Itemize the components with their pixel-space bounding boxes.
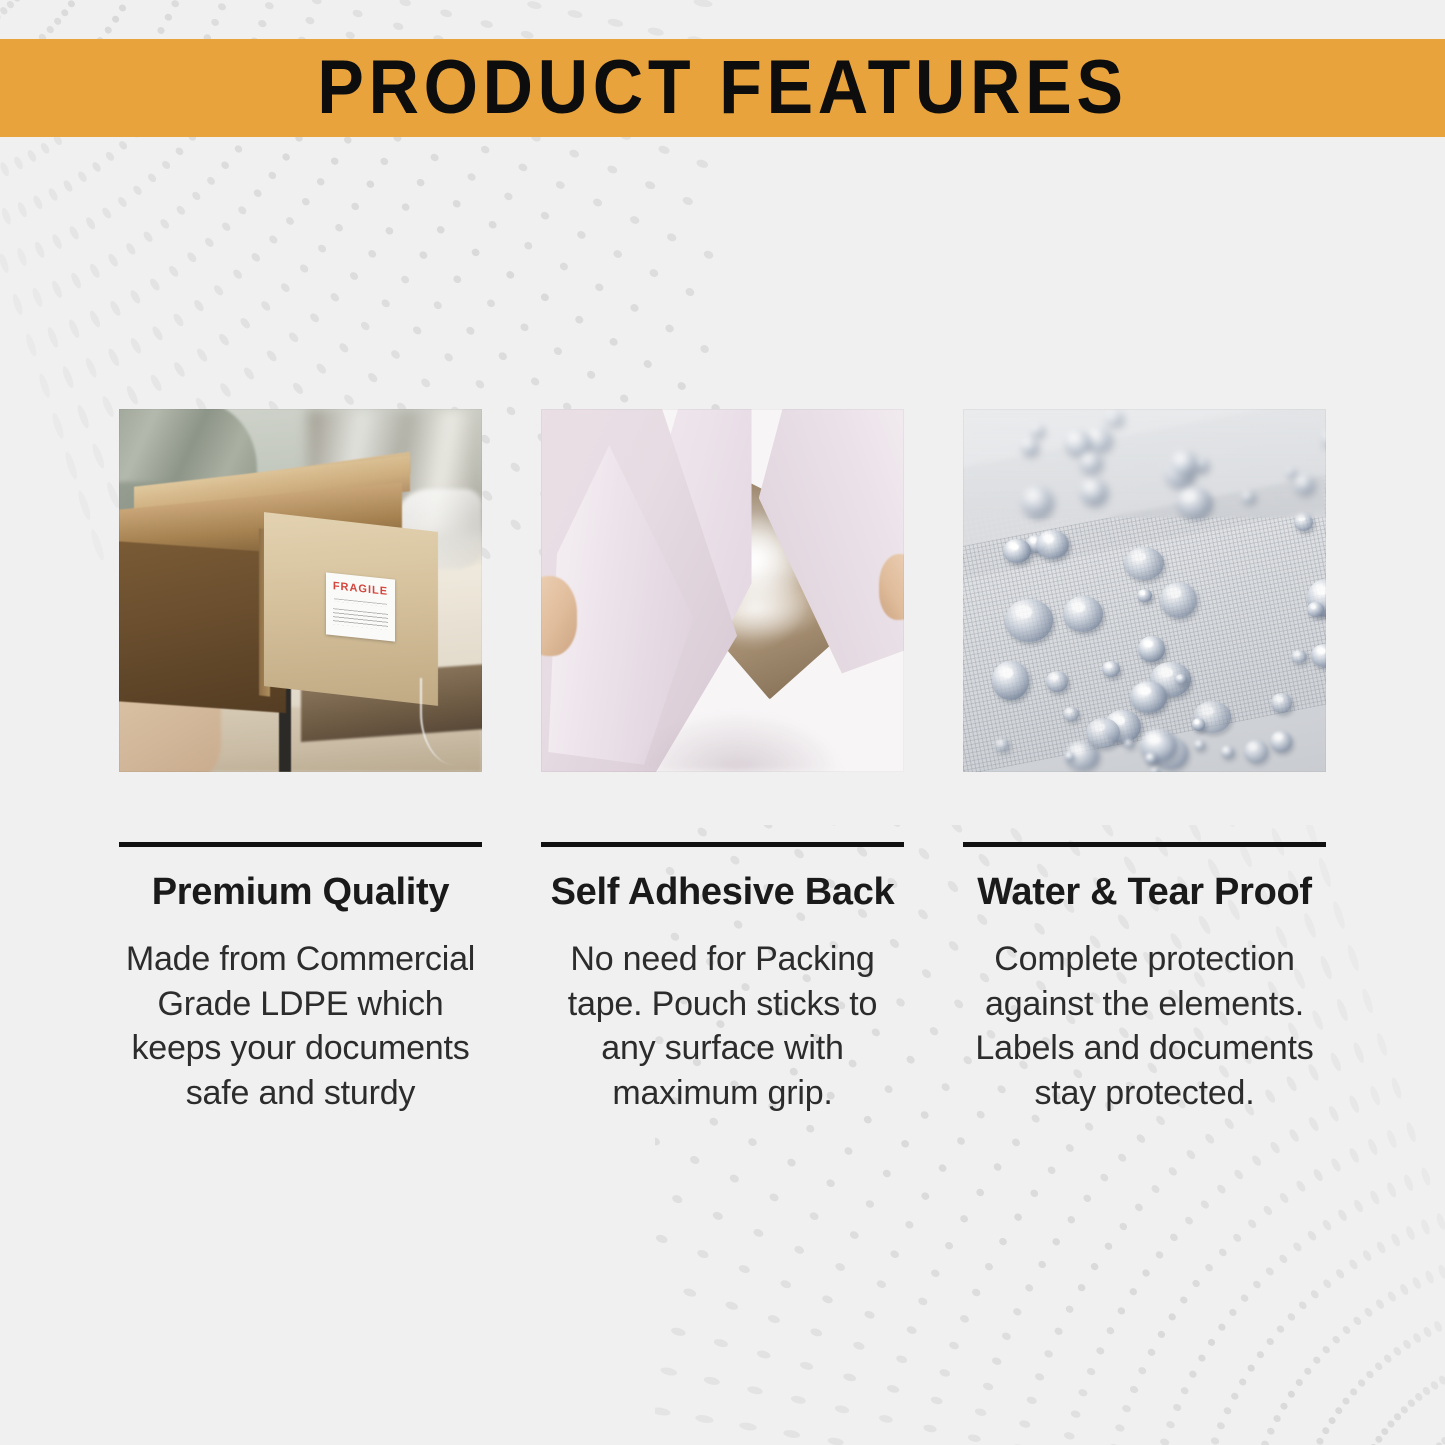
water-droplet <box>1192 718 1205 732</box>
card-divider <box>541 842 904 847</box>
feature-image-adhesive-peel <box>541 409 904 772</box>
fragile-label-text: FRAGILE <box>330 581 391 598</box>
water-droplet <box>1063 707 1079 721</box>
water-droplet <box>1102 661 1120 677</box>
water-droplet <box>1005 599 1053 643</box>
water-droplet <box>1046 671 1067 691</box>
water-droplet <box>1130 681 1166 713</box>
water-droplet <box>1160 582 1197 618</box>
card-divider <box>963 842 1326 847</box>
water-droplet <box>1244 740 1268 763</box>
water-droplet <box>1271 693 1292 713</box>
water-droplet <box>1307 602 1324 617</box>
water-droplet <box>1145 753 1156 764</box>
water-droplet <box>1270 731 1292 753</box>
feature-description: No need for Packing tape. Pouch sticks t… <box>541 937 904 1117</box>
water-droplet <box>1221 746 1234 758</box>
feature-image-boxes: FRAGILE <box>119 409 482 772</box>
fragile-label: FRAGILE <box>326 572 395 641</box>
water-droplet <box>1124 547 1165 580</box>
water-droplet <box>992 661 1029 699</box>
water-droplet <box>1194 740 1204 750</box>
feature-card-water-tear-proof: Water & Tear Proof Complete protection a… <box>963 409 1326 1116</box>
feature-card-premium-quality: FRAGILE Premium Quality Made from Commer… <box>119 409 482 1116</box>
feature-card-self-adhesive-back: Self Adhesive Back No need for Packing t… <box>541 409 904 1116</box>
feature-title: Water & Tear Proof <box>963 871 1326 915</box>
water-droplet <box>1003 539 1031 563</box>
water-droplet <box>1138 636 1165 662</box>
card-divider <box>119 842 482 847</box>
water-droplet <box>1086 718 1120 748</box>
water-droplet <box>1036 530 1070 559</box>
water-droplet <box>1311 644 1326 667</box>
header-banner: PRODUCT FEATURES <box>0 39 1445 137</box>
water-droplet <box>1150 767 1159 772</box>
feature-description: Made from Commercial Grade LDPE which ke… <box>119 937 482 1117</box>
feature-image-water-droplets <box>963 409 1326 772</box>
water-droplet <box>1124 739 1134 747</box>
water-droplet <box>1063 596 1103 632</box>
water-droplet <box>1137 589 1152 603</box>
water-droplet <box>995 739 1008 750</box>
features-grid: FRAGILE Premium Quality Made from Commer… <box>119 409 1326 1116</box>
water-droplet <box>1065 752 1074 760</box>
page-title: PRODUCT FEATURES <box>317 50 1127 126</box>
feature-description: Complete protection against the elements… <box>963 937 1326 1117</box>
feature-title: Premium Quality <box>119 871 482 915</box>
water-droplet <box>1291 650 1307 664</box>
feature-title: Self Adhesive Back <box>541 871 904 915</box>
